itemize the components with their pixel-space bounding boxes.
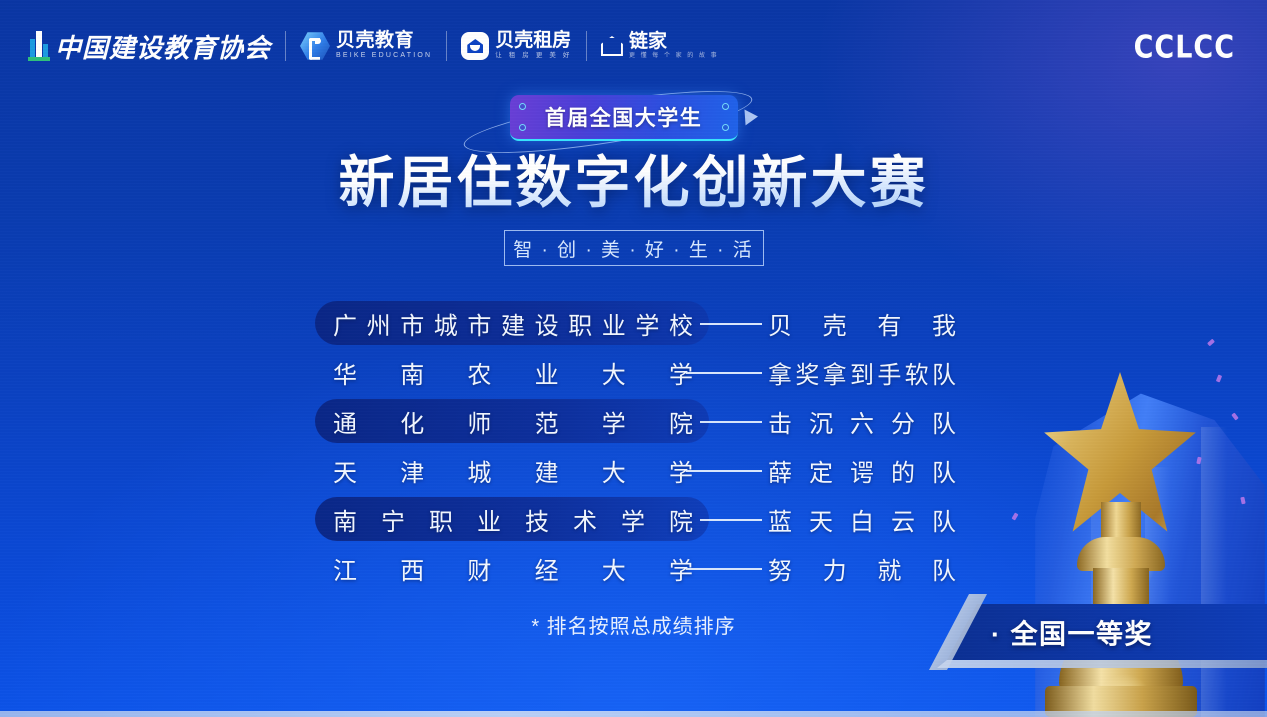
table-row: 江西财经大学 努力就队 [0, 544, 1267, 593]
house-outline-icon [601, 36, 623, 56]
subtitle-box: 智 · 创 · 美 · 好 · 生 · 活 [504, 230, 764, 266]
logo-beike-zufang-label: 贝壳租房 [495, 31, 572, 51]
house-badge-icon [461, 32, 489, 60]
row-team-name: 努力就队 [768, 551, 956, 586]
logo-ccea-label: 中国建设教育协会 [55, 28, 271, 65]
winners-list: 广州市城市建设职业学校 贝壳有我 华南农业大学 拿奖拿到手软队 通化师范学院 击… [0, 299, 1267, 593]
subtitle-label: 智 · 创 · 美 · 好 · 生 · 活 [513, 235, 753, 262]
table-row: 广州市城市建设职业学校 贝壳有我 [0, 299, 1267, 348]
row-team-name: 蓝天白云队 [768, 502, 956, 537]
row-school-name: 天津城建大学 [333, 453, 693, 488]
award-banner: · 全国一等奖 [929, 604, 1267, 660]
event-badge: 首届全国大学生 [510, 95, 738, 141]
badge-dot-icon [519, 103, 526, 110]
row-school-name: 南宁职业技术学院 [333, 502, 693, 537]
orbit-arrow-icon [744, 109, 758, 126]
sponsor-logo-bar: 中国建设教育协会 贝壳教育 BEIKE EDUCATION 贝壳租房 让 租 房… [0, 0, 1267, 90]
award-banner-underline [937, 660, 1267, 668]
row-separator-dash [686, 568, 762, 570]
logo-beike-education-sublabel: BEIKE EDUCATION [336, 51, 432, 60]
table-row: 华南农业大学 拿奖拿到手软队 [0, 348, 1267, 397]
badge-dot-icon [722, 103, 729, 110]
row-separator-dash [686, 372, 762, 374]
presentation-slide: 中国建设教育协会 贝壳教育 BEIKE EDUCATION 贝壳租房 让 租 房… [0, 0, 1267, 717]
beike-hex-icon [300, 31, 330, 61]
logo-beike-education: 贝壳教育 BEIKE EDUCATION [300, 31, 432, 61]
row-school-name: 通化师范学院 [333, 404, 693, 439]
award-label: · 全国一等奖 [991, 613, 1153, 652]
row-school-name: 广州市城市建设职业学校 [333, 306, 693, 341]
logo-ccea: 中国建设教育协会 [28, 28, 271, 65]
row-separator-dash [700, 519, 762, 521]
building-icon [28, 31, 50, 61]
logo-divider-3 [586, 31, 587, 61]
logo-beike-education-label: 贝壳教育 [336, 31, 432, 51]
badge-dot-icon [722, 124, 729, 131]
row-separator-dash [700, 323, 762, 325]
row-team-name: 拿奖拿到手软队 [768, 355, 956, 390]
row-separator-dash [686, 470, 762, 472]
row-school-name: 华南农业大学 [333, 355, 693, 390]
event-badge-label: 首届全国大学生 [545, 102, 703, 132]
logo-beike-zufang-sublabel: 让 租 房 更 美 好 [495, 51, 572, 60]
logo-lianjia: 链家 更 懂 每 个 家 的 故 事 [601, 32, 719, 60]
page-title: 新居住数字化创新大赛 [0, 152, 1267, 216]
logo-cclcc: CCLCC [1134, 29, 1235, 66]
badge-dot-icon [519, 124, 526, 131]
event-badge-wrapper: 首届全国大学生 [484, 92, 784, 144]
row-separator-dash [700, 421, 762, 423]
title-block: 首届全国大学生 新居住数字化创新大赛 智 · 创 · 美 · 好 · 生 · 活 [0, 92, 1267, 266]
table-row: 天津城建大学 薛定谔的队 [0, 446, 1267, 495]
row-team-name: 贝壳有我 [768, 306, 956, 341]
logo-beike-zufang: 贝壳租房 让 租 房 更 美 好 [461, 31, 572, 60]
logo-divider-2 [446, 31, 447, 61]
row-team-name: 击沉六分队 [768, 404, 956, 439]
row-school-name: 江西财经大学 [333, 551, 693, 586]
sponsor-logo-group: 中国建设教育协会 贝壳教育 BEIKE EDUCATION 贝壳租房 让 租 房… [28, 26, 719, 66]
bottom-light-strip [0, 711, 1267, 717]
logo-divider-1 [285, 31, 286, 61]
table-row: 通化师范学院 击沉六分队 [0, 397, 1267, 446]
logo-lianjia-sublabel: 更 懂 每 个 家 的 故 事 [629, 52, 719, 60]
row-team-name: 薛定谔的队 [768, 453, 956, 488]
table-row: 南宁职业技术学院 蓝天白云队 [0, 495, 1267, 544]
logo-lianjia-label: 链家 [629, 32, 719, 52]
